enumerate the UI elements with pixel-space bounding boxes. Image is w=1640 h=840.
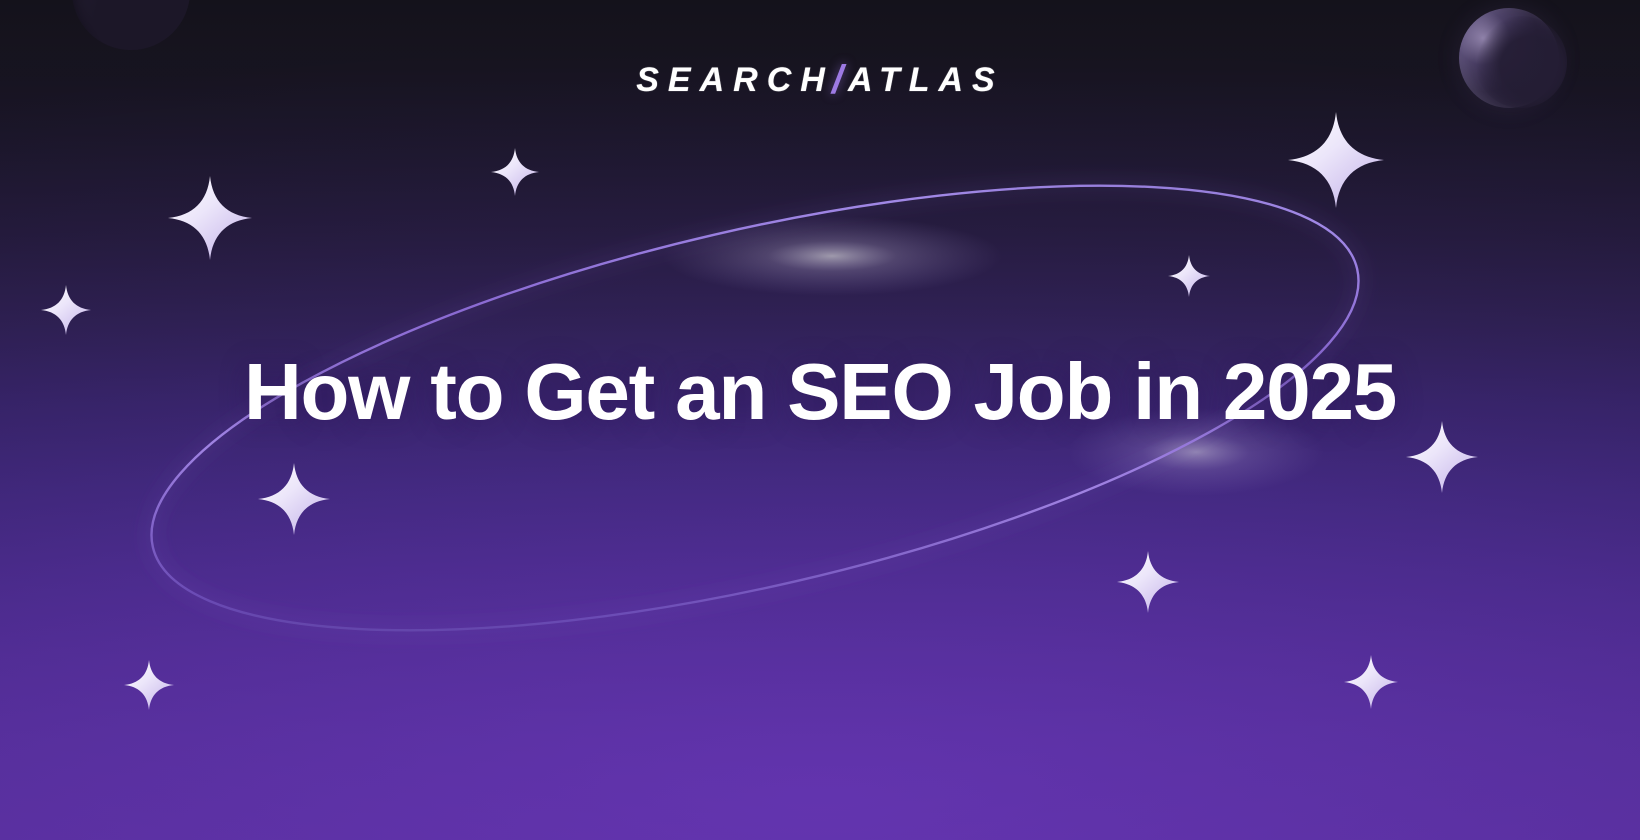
brand-logo-word-two: ATLAS: [848, 61, 1004, 100]
brand-logo[interactable]: SEARCH / ATLAS: [0, 58, 1640, 103]
page-title: How to Get an SEO Job in 2025: [0, 352, 1640, 432]
brand-logo-word-one: SEARCH: [636, 61, 834, 100]
brand-logo-slash-icon: /: [832, 58, 847, 103]
hero-banner: How to Get an SEO Job in 2025 SEARCH / A…: [0, 0, 1640, 840]
brand-logo-wordmark: SEARCH / ATLAS: [636, 58, 1004, 103]
